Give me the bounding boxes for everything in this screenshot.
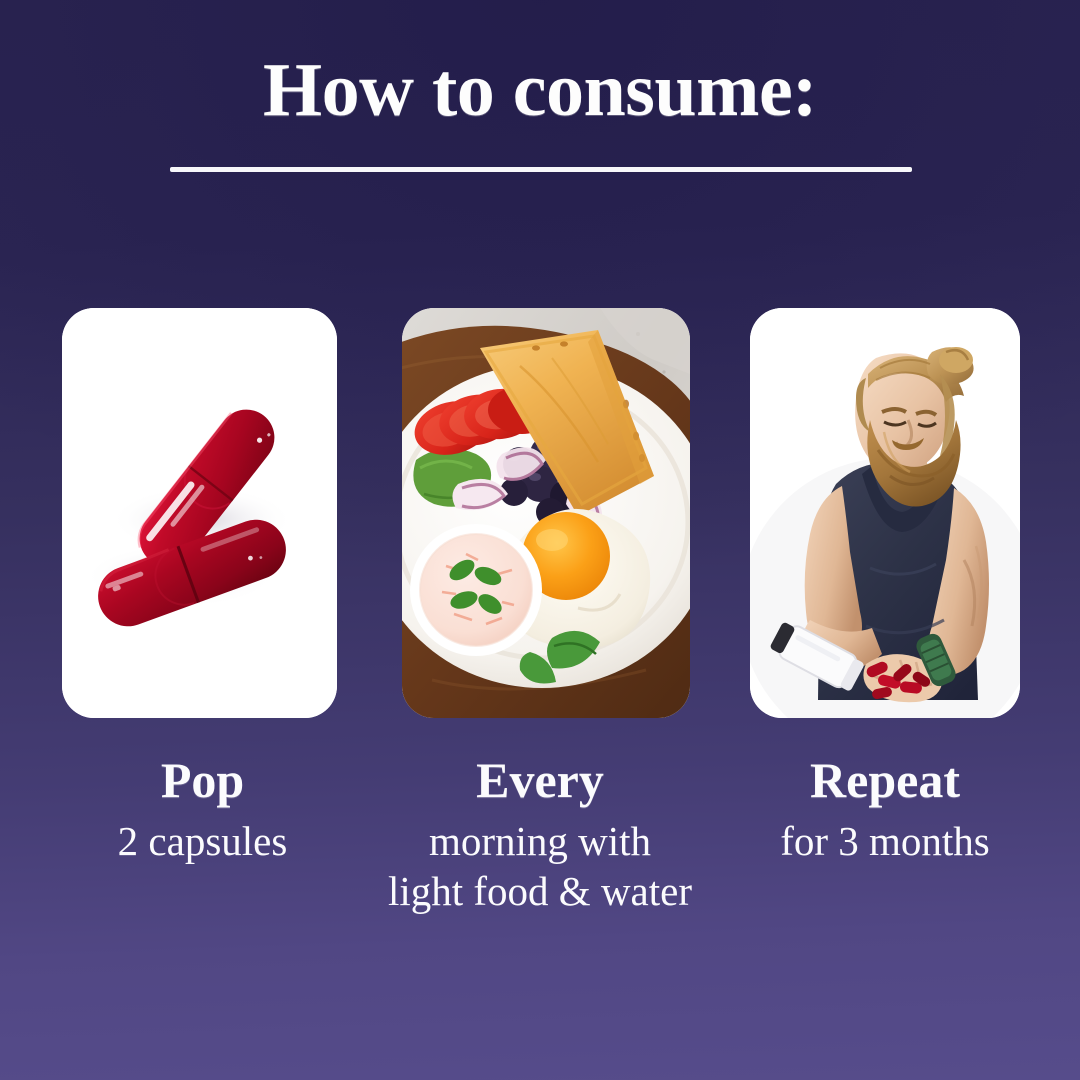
poster-canvas: How to consume:	[0, 0, 1080, 1080]
man-taking-capsules-photo	[750, 308, 1020, 718]
breakfast-plate-photo	[402, 308, 690, 718]
caption-repeat: Repeat for 3 months	[730, 752, 1040, 866]
step-heading-pop: Pop	[50, 752, 355, 808]
red-capsules-photo	[62, 308, 337, 718]
step-card-pop[interactable]	[62, 308, 337, 718]
step-heading-repeat: Repeat	[730, 752, 1040, 808]
step-subtext-every: morning with light food & water	[340, 816, 740, 916]
step-card-repeat[interactable]	[750, 308, 1020, 718]
step-subtext-repeat: for 3 months	[730, 816, 1040, 866]
caption-every: Every morning with light food & water	[340, 752, 740, 916]
steps-image-row	[0, 308, 1080, 720]
caption-pop: Pop 2 capsules	[50, 752, 355, 866]
page-title: How to consume:	[0, 52, 1080, 128]
step-subtext-pop: 2 capsules	[50, 816, 355, 866]
title-divider	[170, 167, 912, 172]
step-card-every[interactable]	[402, 308, 690, 718]
step-heading-every: Every	[340, 752, 740, 808]
